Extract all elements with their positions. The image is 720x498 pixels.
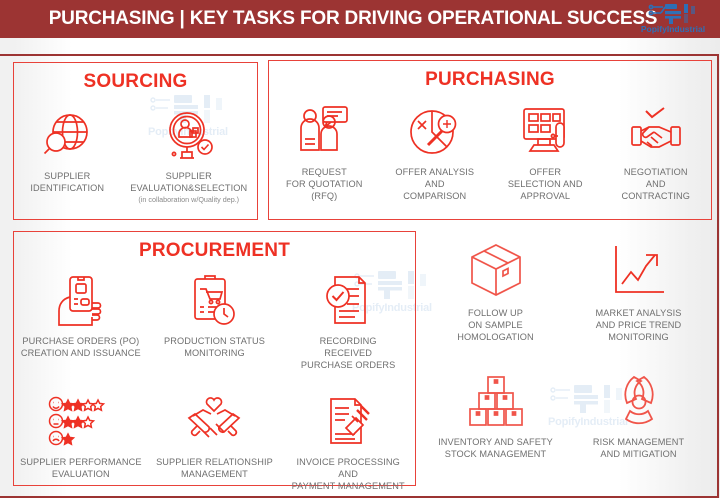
page-title: PURCHASING | KEY TASKS FOR DRIVING OPERA… <box>49 8 658 30</box>
task-label: INVENTORY AND SAFETYSTOCK MANAGEMENT <box>438 437 553 461</box>
logo-name-popify: Popify <box>641 24 667 34</box>
offer-selection-icon <box>516 103 574 161</box>
globe-search-icon <box>39 107 95 165</box>
task-label: FOLLOW UPON SAMPLEHOMOLOGATION <box>457 308 534 343</box>
section-title-sourcing: SOURCING <box>14 71 257 93</box>
purchase-order-hand-icon <box>54 272 108 330</box>
recording-received-icon <box>321 272 375 330</box>
task-item[interactable]: INVENTORY AND SAFETYSTOCK MANAGEMENT <box>426 371 566 461</box>
task-label: OFFERSELECTION ANDAPPROVAL <box>508 167 583 202</box>
trend-chart-icon <box>608 240 670 302</box>
task-label: PURCHASE ORDERS (PO)CREATION AND ISSUANC… <box>21 336 141 360</box>
stacked-boxes-icon <box>465 371 527 431</box>
task-item[interactable]: SUPPLIERIDENTIFICATION <box>18 107 116 195</box>
task-sublabel: (in collaboration w/Quality dep.) <box>138 196 239 205</box>
section-title-purchasing: PURCHASING <box>269 69 711 91</box>
supplier-rating-icon <box>46 393 116 451</box>
task-label: SUPPLIEREVALUATION&SELECTION <box>130 171 247 195</box>
task-item[interactable]: OFFER ANALYSISANDCOMPARISON <box>383 103 487 202</box>
production-status-icon <box>187 272 241 330</box>
logo-wordmark: PopifyIndustrial <box>641 25 705 34</box>
section-procurement: PROCUREMENT PURCHASE ORDERS (PO)CREATION… <box>13 231 416 486</box>
task-label: SUPPLIERIDENTIFICATION <box>30 171 104 195</box>
task-label: NEGOTIATIONANDCONTRACTING <box>622 167 690 202</box>
task-item[interactable]: SUPPLIEREVALUATION&SELECTION (in collabo… <box>125 107 253 204</box>
logo-circuit-icon <box>647 2 699 24</box>
section-purchasing: PURCHASING REQUESTFOR QUOTATION(RFQ) <box>268 60 712 220</box>
task-label: MARKET ANALYSISAND PRICE TRENDMONITORING <box>596 308 682 343</box>
task-item[interactable]: OFFERSELECTION ANDAPPROVAL <box>493 103 597 202</box>
task-label: RISK MANAGEMENTAND MITIGATION <box>593 437 684 461</box>
task-item[interactable]: RECORDINGRECEIVEDPURCHASE ORDERS <box>282 272 414 371</box>
relationship-handshake-icon <box>183 393 245 451</box>
section-sourcing: SOURCING SUPPLIERIDENTIFICATION <box>13 62 258 220</box>
brand-logo: PopifyIndustrial <box>634 2 712 42</box>
task-label: REQUESTFOR QUOTATION(RFQ) <box>286 167 363 202</box>
request-quotation-icon <box>293 103 355 161</box>
invoice-gavel-icon <box>321 393 375 451</box>
task-label: SUPPLIER RELATIONSHIPMANAGEMENT <box>156 457 273 481</box>
task-item[interactable]: SUPPLIER RELATIONSHIPMANAGEMENT <box>148 393 280 481</box>
task-item[interactable]: SUPPLIER PERFORMANCEEVALUATION <box>15 393 147 481</box>
task-item[interactable]: MARKET ANALYSISAND PRICE TRENDMONITORING <box>569 240 709 343</box>
task-item[interactable]: NEGOTIATIONANDCONTRACTING <box>604 103 708 202</box>
offer-analysis-icon <box>406 103 464 161</box>
package-box-icon <box>465 240 527 302</box>
right-task-group: FOLLOW UPON SAMPLEHOMOLOGATION MARKET AN… <box>424 240 710 490</box>
task-label: RECORDINGRECEIVEDPURCHASE ORDERS <box>301 336 395 371</box>
infographic-page: PURCHASING | KEY TASKS FOR DRIVING OPERA… <box>0 0 720 498</box>
logo-name-industrial: Industrial <box>667 24 705 34</box>
header-banner: PURCHASING | KEY TASKS FOR DRIVING OPERA… <box>0 0 720 38</box>
radiation-hazard-icon <box>608 371 670 431</box>
task-item[interactable]: RISK MANAGEMENTAND MITIGATION <box>569 371 709 461</box>
task-label: PRODUCTION STATUSMONITORING <box>164 336 265 360</box>
supplier-evaluation-icon <box>158 107 220 165</box>
task-item[interactable]: PRODUCTION STATUSMONITORING <box>148 272 280 360</box>
section-title-procurement: PROCUREMENT <box>14 240 415 262</box>
task-label: OFFER ANALYSISANDCOMPARISON <box>395 167 474 202</box>
task-item[interactable]: FOLLOW UPON SAMPLEHOMOLOGATION <box>426 240 566 343</box>
task-item[interactable]: REQUESTFOR QUOTATION(RFQ) <box>272 103 376 202</box>
handshake-check-icon <box>626 103 686 161</box>
task-label: SUPPLIER PERFORMANCEEVALUATION <box>20 457 141 481</box>
task-item[interactable]: PURCHASE ORDERS (PO)CREATION AND ISSUANC… <box>15 272 147 360</box>
task-item[interactable]: INVOICE PROCESSINGANDPAYMENT MANAGEMENT <box>282 393 414 492</box>
task-label: INVOICE PROCESSINGANDPAYMENT MANAGEMENT <box>292 457 405 492</box>
